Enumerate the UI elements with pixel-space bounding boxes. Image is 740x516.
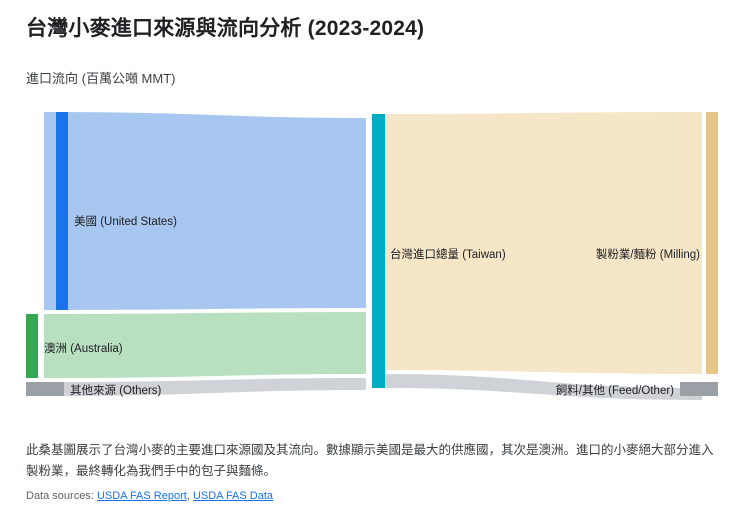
sankey-label-australia: 澳洲 (Australia)	[44, 342, 123, 355]
sankey-label-feed: 飼料/其他 (Feed/Other)	[556, 383, 674, 397]
sankey-node-taiwan[interactable]	[372, 114, 385, 388]
data-sources-label: Data sources:	[26, 490, 94, 502]
source-separator: ,	[187, 490, 190, 502]
sankey-link-taiwan-milling	[384, 112, 702, 374]
sankey-node-feed[interactable]	[680, 382, 718, 396]
chart-description: 此桑基圖展示了台灣小麥的主要進口來源國及其流向。數據顯示美國是最大的供應國，其次…	[26, 440, 716, 481]
data-sources: Data sources: USDA FAS Report, USDA FAS …	[26, 490, 273, 502]
sankey-label-taiwan: 台灣進口總量 (Taiwan)	[390, 247, 506, 261]
page-title: 台灣小麥進口來源與流向分析 (2023-2024)	[26, 12, 424, 42]
sankey-node-others[interactable]	[26, 382, 64, 396]
sankey-chart: 美國 (United States) 澳洲 (Australia) 其他來源 (…	[26, 112, 718, 412]
sankey-svg: 美國 (United States) 澳洲 (Australia) 其他來源 (…	[26, 112, 718, 412]
sankey-label-united-states: 美國 (United States)	[74, 214, 177, 228]
sankey-node-australia[interactable]	[26, 314, 38, 378]
sankey-page: 台灣小麥進口來源與流向分析 (2023-2024) 進口流向 (百萬公噸 MMT…	[0, 0, 740, 516]
source-link-usda-fas-data[interactable]: USDA FAS Data	[193, 490, 273, 502]
sankey-label-milling: 製粉業/麵粉 (Milling)	[596, 247, 700, 261]
chart-subtitle: 進口流向 (百萬公噸 MMT)	[26, 68, 175, 87]
source-link-usda-fas-report[interactable]: USDA FAS Report	[97, 490, 187, 502]
sankey-link-us-taiwan	[44, 112, 366, 310]
sankey-label-others: 其他來源 (Others)	[70, 383, 162, 397]
sankey-node-milling[interactable]	[706, 112, 718, 374]
sankey-node-united-states[interactable]	[56, 112, 68, 310]
